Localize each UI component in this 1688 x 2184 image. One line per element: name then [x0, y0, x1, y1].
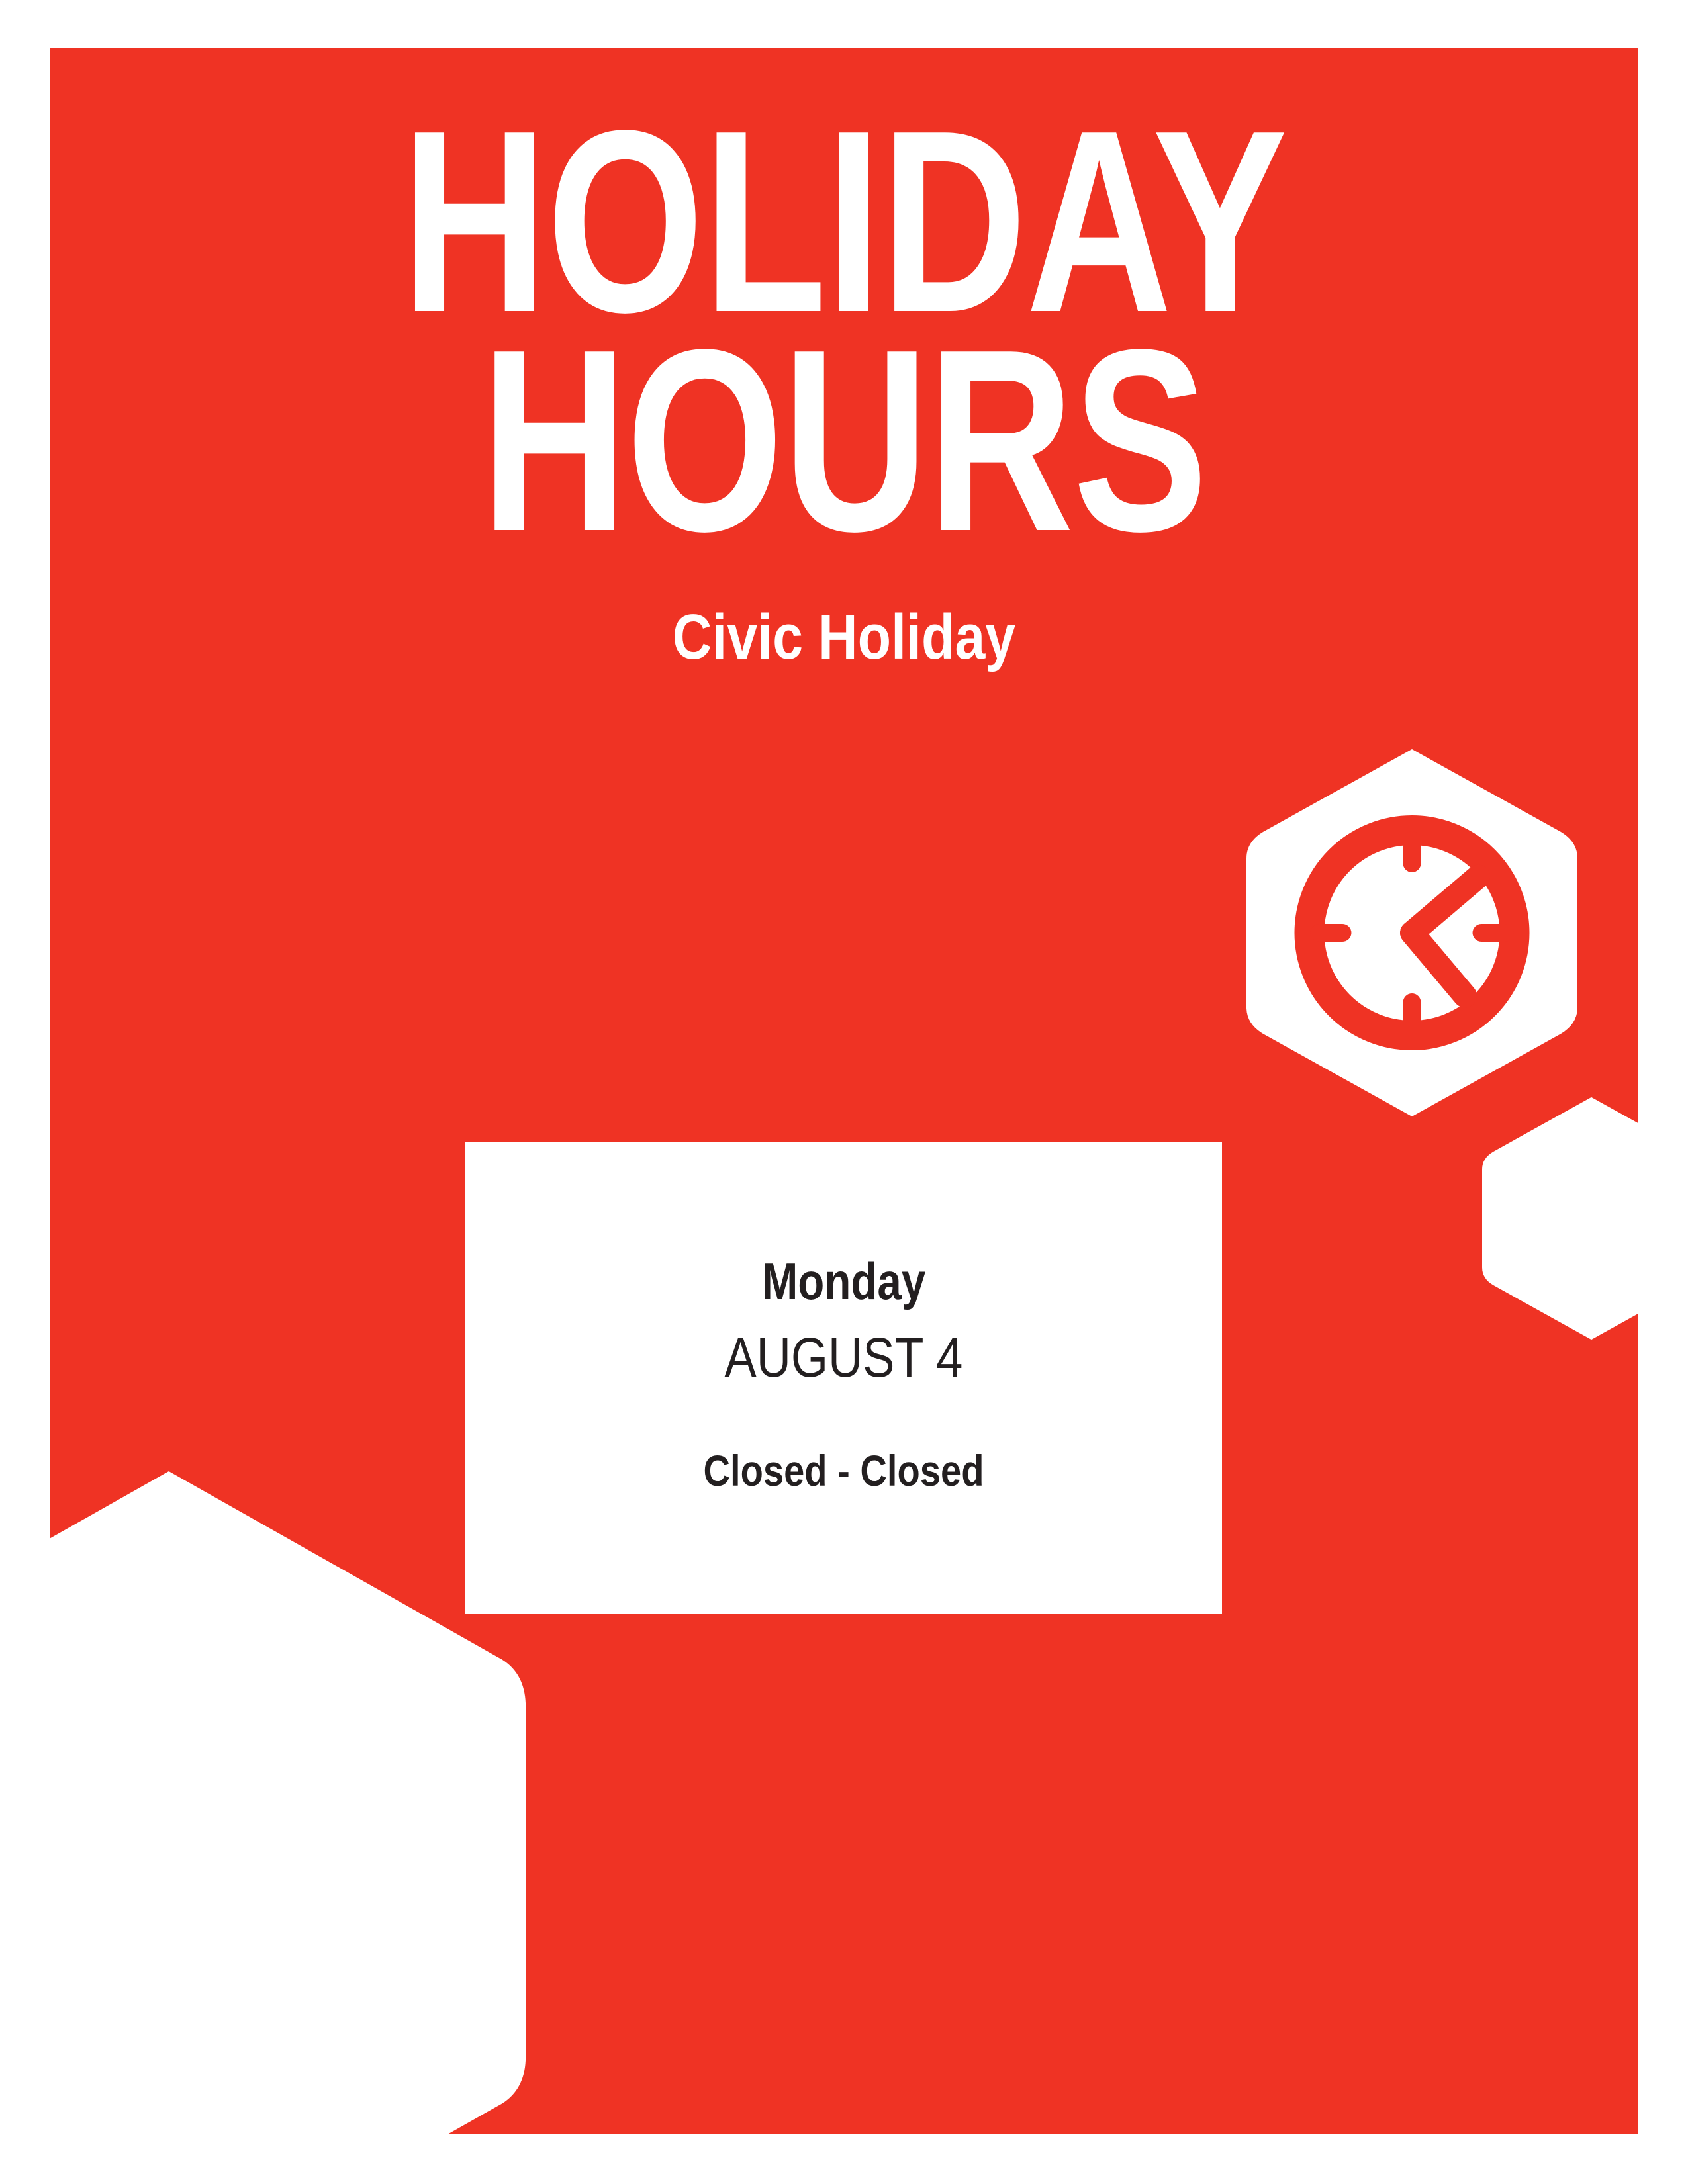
schedule-date: AUGUST 4 — [518, 1330, 1169, 1385]
page-subtitle: Civic Holiday — [161, 606, 1527, 669]
hexagon-decoration-bottom-left — [50, 1471, 526, 2134]
hexagon-decoration-right-edge — [1482, 1093, 1638, 1344]
poster-heading: HOLIDAY HOURS Civic Holiday — [50, 48, 1638, 669]
schedule-card: Monday AUGUST 4 Closed - Closed — [465, 1142, 1222, 1614]
page-title-line-2: HOURS — [224, 326, 1464, 557]
schedule-hours: Closed - Closed — [522, 1449, 1166, 1492]
schedule-day: Monday — [526, 1255, 1161, 1307]
clock-hexagon-icon — [1246, 736, 1577, 1130]
holiday-hours-poster: HOLIDAY HOURS Civic Holiday Monday AUGUS… — [0, 0, 1688, 2184]
red-background-panel: HOLIDAY HOURS Civic Holiday Monday AUGUS… — [50, 48, 1638, 2134]
